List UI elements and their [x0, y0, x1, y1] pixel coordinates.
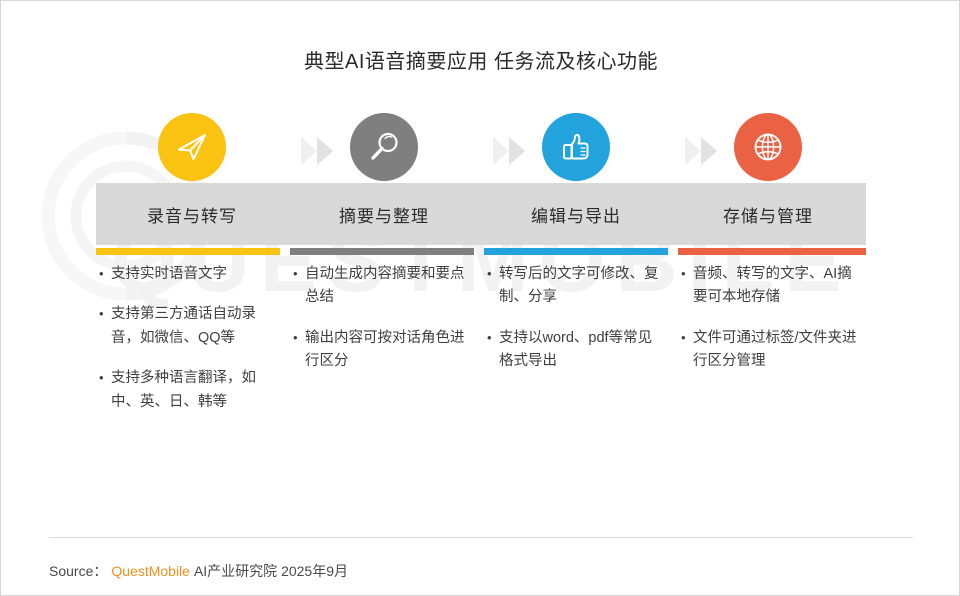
bullet-dot: •	[681, 263, 693, 310]
list-item: •文件可通过标签/文件夹进行区分管理	[681, 327, 859, 374]
list-item: •支持多种语言翻译，如中、英、日、韩等	[99, 367, 277, 414]
icon-row	[96, 113, 866, 189]
bullet-dot: •	[99, 303, 111, 350]
bullet-dot: •	[487, 263, 499, 310]
icon-cell-2	[288, 113, 480, 189]
bullet-dot: •	[487, 327, 499, 374]
list-item: •自动生成内容摘要和要点总结	[293, 263, 471, 310]
bullet-dot: •	[293, 263, 305, 310]
source-brand: QuestMobile	[111, 563, 190, 579]
accent-bar-2	[290, 248, 474, 255]
accent-bar-3	[484, 248, 668, 255]
bullet-text: 文件可通过标签/文件夹进行区分管理	[693, 327, 859, 374]
paper-plane-icon	[158, 113, 226, 181]
content-column-4: •音频、转写的文字、AI摘要可本地存储 •文件可通过标签/文件夹进行区分管理	[681, 263, 859, 391]
list-item: •输出内容可按对话角色进行区分	[293, 327, 471, 374]
slide-canvas: QUESTMOBILE 典型AI语音摘要应用 任务流及核心功能	[0, 0, 960, 596]
column-header-1: 录音与转写	[96, 183, 288, 245]
content-column-2: •自动生成内容摘要和要点总结 •输出内容可按对话角色进行区分	[293, 263, 471, 391]
source-label: Source：	[49, 563, 107, 579]
bullet-text: 支持以word、pdf等常见格式导出	[499, 327, 665, 374]
column-header-4: 存储与管理	[672, 183, 864, 245]
bullet-dot: •	[293, 327, 305, 374]
bullet-dot: •	[99, 263, 111, 286]
footer-divider	[49, 537, 913, 538]
bullet-text: 支持实时语音文字	[111, 263, 277, 286]
source-detail: AI产业研究院 2025年9月	[194, 563, 348, 579]
list-item: •转写后的文字可修改、复制、分享	[487, 263, 665, 310]
bullet-text: 音频、转写的文字、AI摘要可本地存储	[693, 263, 859, 310]
icon-cell-3	[480, 113, 672, 189]
list-item: •支持以word、pdf等常见格式导出	[487, 327, 665, 374]
column-header-2: 摘要与整理	[288, 183, 480, 245]
thumbs-up-icon	[542, 113, 610, 181]
list-item: •支持第三方通话自动录音，如微信、QQ等	[99, 303, 277, 350]
bullet-text: 自动生成内容摘要和要点总结	[305, 263, 471, 310]
icon-cell-1	[96, 113, 288, 189]
globe-icon	[734, 113, 802, 181]
bullet-text: 支持第三方通话自动录音，如微信、QQ等	[111, 303, 277, 350]
content-column-3: •转写后的文字可修改、复制、分享 •支持以word、pdf等常见格式导出	[487, 263, 665, 391]
list-item: •支持实时语音文字	[99, 263, 277, 286]
header-band: 录音与转写 摘要与整理 编辑与导出 存储与管理	[96, 183, 866, 245]
icon-cell-4	[672, 113, 864, 189]
page-title: 典型AI语音摘要应用 任务流及核心功能	[1, 45, 960, 74]
bullet-text: 输出内容可按对话角色进行区分	[305, 327, 471, 374]
accent-bar-1	[96, 248, 280, 255]
content-column-1: •支持实时语音文字 •支持第三方通话自动录音，如微信、QQ等 •支持多种语言翻译…	[99, 263, 277, 431]
source-line: Source：QuestMobileAI产业研究院 2025年9月	[49, 561, 348, 581]
magnifier-icon	[350, 113, 418, 181]
list-item: •音频、转写的文字、AI摘要可本地存储	[681, 263, 859, 310]
bullet-text: 转写后的文字可修改、复制、分享	[499, 263, 665, 310]
column-header-3: 编辑与导出	[480, 183, 672, 245]
bullet-dot: •	[681, 327, 693, 374]
bullet-dot: •	[99, 367, 111, 414]
bullet-text: 支持多种语言翻译，如中、英、日、韩等	[111, 367, 277, 414]
accent-bar-4	[678, 248, 866, 255]
